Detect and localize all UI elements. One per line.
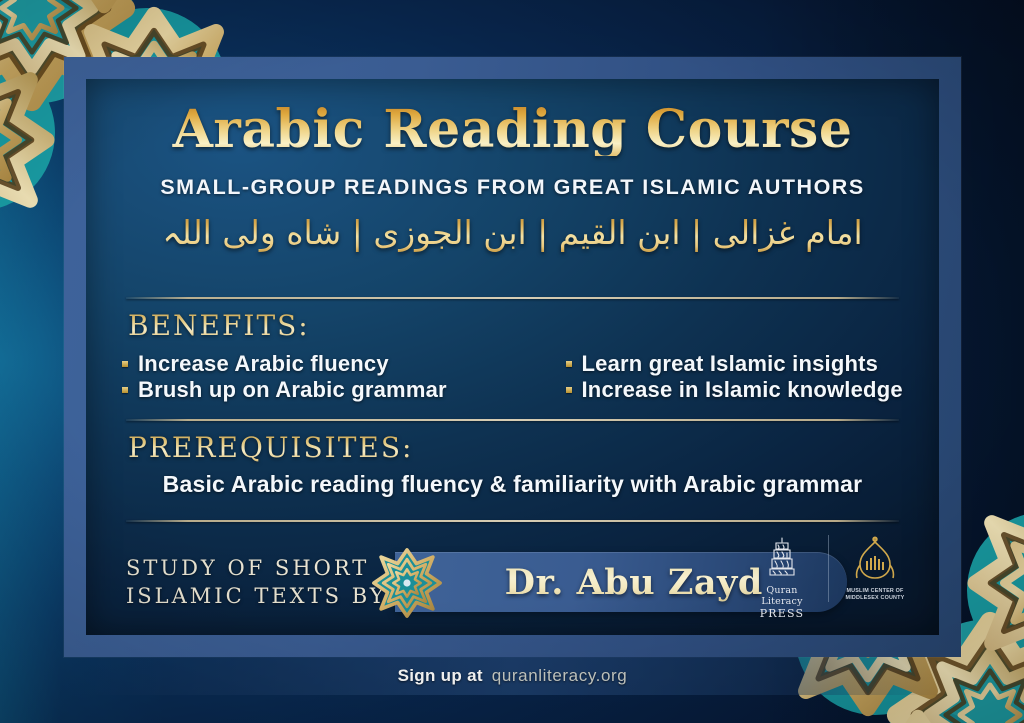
logo-quran-literacy-press: Quran Literacy PRESS [736,535,828,620]
logo-caption: MUSLIM CENTER OF MIDDLESEX COUNTY [846,588,905,602]
benefit-label: Brush up on Arabic grammar [138,377,447,403]
benefit-label: Learn great Islamic insights [582,351,879,377]
signup-label: Sign up at [398,666,483,686]
bullet-icon [566,361,572,367]
signup-footer: Sign up at quranliteracy.org [86,657,939,695]
list-item: Increase in Islamic knowledge [522,377,912,403]
benefit-label: Increase Arabic fluency [138,351,389,377]
benefits-column-right: Learn great Islamic insights Increase in… [522,351,912,403]
benefits-list: Increase Arabic fluency Brush up on Arab… [122,351,911,403]
bullet-icon [122,387,128,393]
prerequisites-heading: PREREQUISITES: [128,431,413,464]
presenter-lead-in: STUDY OF SHORT ISLAMIC TEXTS BY [126,554,387,611]
prerequisites-text: Basic Arabic reading fluency & familiari… [86,471,939,498]
benefits-column-left: Increase Arabic fluency Brush up on Arab… [122,351,512,403]
eight-point-star-rosette-icon [371,547,443,624]
poster-canvas: Arabic Reading Course SMALL-GROUP READIN… [0,0,1024,723]
presenter-name: Dr. Abu Zayd [505,562,763,603]
logo-caption-line2: MIDDLESEX COUNTY [846,595,905,602]
logo-caption-line1: Quran Literacy [745,586,819,608]
list-item: Learn great Islamic insights [522,351,912,377]
list-item: Increase Arabic fluency [122,351,512,377]
logo-caption-line2: PRESS [745,608,819,621]
page-title: Arabic Reading Course [86,104,939,156]
bullet-icon [122,361,128,367]
poster-panel: Arabic Reading Course SMALL-GROUP READIN… [86,79,939,635]
logo-caption-line1: MUSLIM CENTER OF [846,588,905,595]
list-item: Brush up on Arabic grammar [122,377,512,403]
logo-muslim-center-of-middlesex-county: MUSLIM CENTER OF MIDDLESEX COUNTY [828,535,921,602]
divider-top [126,297,899,299]
bullet-icon [566,387,572,393]
benefit-label: Increase in Islamic knowledge [582,377,903,403]
mosque-dome-icon [852,535,898,585]
benefits-heading: BENEFITS: [128,309,310,342]
author-names: امام غزالی | ابن القیم | ابن الجوزی | شا… [86,212,939,254]
website-link[interactable]: quranliteracy.org [492,666,628,686]
divider-middle [126,419,899,421]
divider-bottom [126,520,899,522]
poster-subtitle: SMALL-GROUP READINGS FROM GREAT ISLAMIC … [86,175,939,200]
minaret-calligraphy-icon [762,535,802,583]
partner-logos: Quran Literacy PRESS [736,535,921,620]
logo-caption: Quran Literacy PRESS [745,586,819,620]
